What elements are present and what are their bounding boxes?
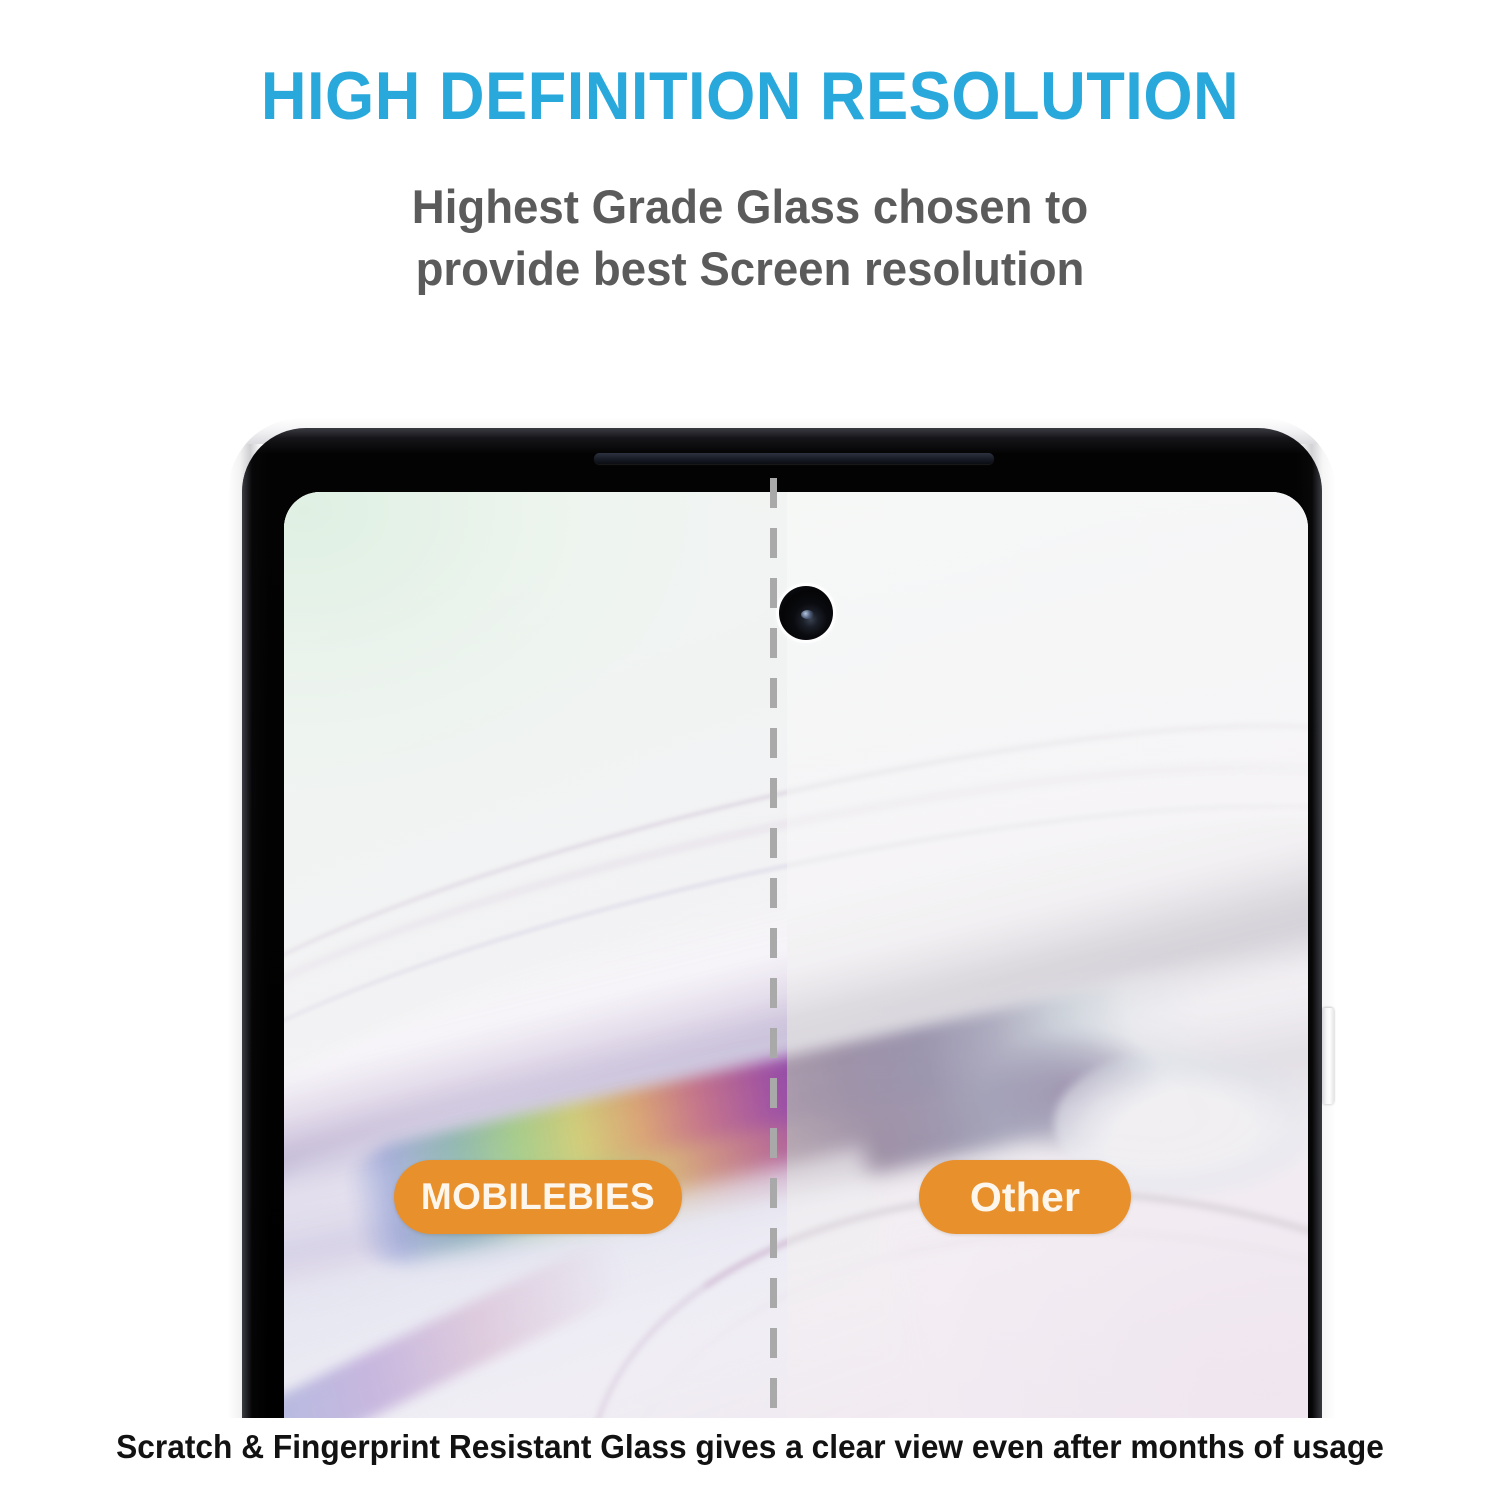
- power-button[interactable]: [1322, 1008, 1334, 1104]
- haze-overlay: [787, 492, 1308, 1418]
- front-camera-icon: [779, 586, 833, 640]
- subtitle-line-1: Highest Grade Glass chosen to: [23, 176, 1478, 238]
- phone-chassis: [228, 418, 1336, 1418]
- page-subtitle: Highest Grade Glass chosen to provide be…: [23, 176, 1478, 300]
- camera-lens-glint: [801, 610, 814, 619]
- page-headline: HIGH DEFINITION RESOLUTION: [53, 62, 1448, 130]
- footer-caption: Scratch & Fingerprint Resistant Glass gi…: [30, 1428, 1470, 1466]
- badge-mobilebies: MOBILEBIES: [394, 1160, 682, 1234]
- wallpaper-right-hazy: [787, 492, 1308, 1418]
- badge-other: Other: [919, 1160, 1131, 1234]
- phone-bezel: [242, 428, 1322, 1418]
- comparison-divider: [770, 478, 777, 1418]
- wallpaper-left-art: [284, 492, 787, 1418]
- wallpaper-left-sharp: [284, 492, 787, 1418]
- earpiece-speaker-icon: [594, 453, 994, 464]
- phone-comparison-figure: [228, 418, 1336, 1418]
- phone-screen: [284, 492, 1308, 1418]
- subtitle-line-2: provide best Screen resolution: [23, 238, 1478, 300]
